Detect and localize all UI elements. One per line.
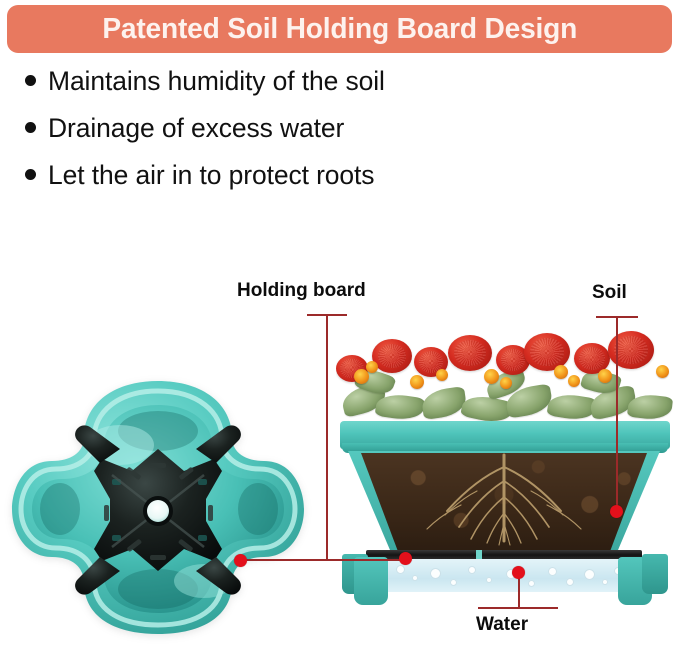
callout-label-water: Water <box>476 614 528 636</box>
callout-line-water-base <box>478 607 558 609</box>
callout-line-holding-board-stem <box>326 314 328 560</box>
planter-top-view <box>8 375 308 640</box>
infographic-page: Patented Soil Holding Board Design Maint… <box>0 0 679 646</box>
feature-text: Let the air in to protect roots <box>48 160 374 191</box>
list-item: Maintains humidity of the soil <box>22 66 622 113</box>
bullet-dot-icon <box>25 122 36 133</box>
feature-text: Drainage of excess water <box>48 113 344 144</box>
water-reservoir <box>382 559 626 592</box>
planter-cross-section <box>330 325 675 630</box>
soil-fill <box>361 453 647 552</box>
callout-line-soil-stem <box>616 316 618 510</box>
feature-list: Maintains humidity of the soil Drainage … <box>22 66 622 207</box>
list-item: Let the air in to protect roots <box>22 160 622 207</box>
callout-marker-soil <box>610 505 623 518</box>
callout-marker-holding-board-right <box>399 552 412 565</box>
plant-foliage <box>336 325 674 435</box>
product-diagram: Holding board Soil Water <box>0 230 679 646</box>
bullet-dot-icon <box>25 169 36 180</box>
bullet-dot-icon <box>25 75 36 86</box>
center-drain-hole <box>147 500 169 522</box>
holding-board-seam <box>476 550 482 559</box>
feature-text: Maintains humidity of the soil <box>48 66 385 97</box>
list-item: Drainage of excess water <box>22 113 622 160</box>
callout-line-water-stem <box>518 578 520 608</box>
page-title: Patented Soil Holding Board Design <box>102 13 577 46</box>
planter-body <box>348 451 660 554</box>
callout-label-soil: Soil <box>592 282 627 304</box>
callout-marker-water <box>512 566 525 579</box>
planter-foot <box>642 554 668 594</box>
clover-planter-illustration <box>8 375 308 640</box>
callout-line-holding-board-base <box>240 559 410 561</box>
planter-foot <box>354 557 388 605</box>
root-system-illustration <box>361 453 647 552</box>
callout-label-holding-board: Holding board <box>237 280 366 302</box>
callout-marker-holding-board-left <box>234 554 247 567</box>
header-banner: Patented Soil Holding Board Design <box>7 5 672 53</box>
